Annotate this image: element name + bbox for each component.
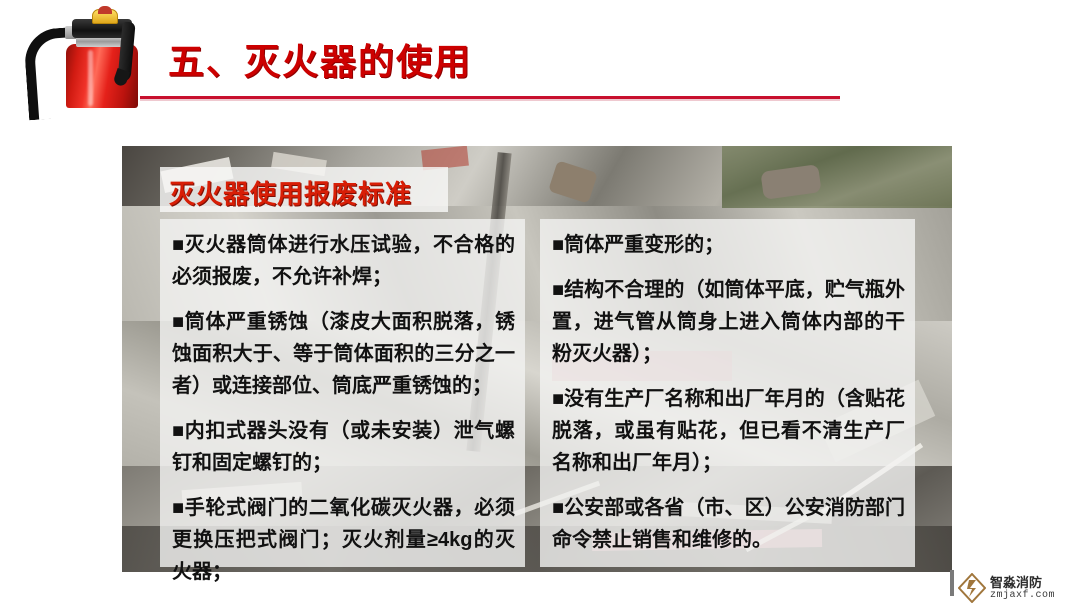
- criteria-column-left: ■灭火器筒体进行水压试验，不合格的必须报废，不允许补焊； ■筒体严重锈蚀（漆皮大…: [160, 219, 525, 567]
- list-item: ■内扣式器头没有（或未安装）泄气螺钉和固定螺钉的；: [172, 415, 515, 479]
- watermark: 智淼消防 zmjaxf.com: [958, 570, 1076, 606]
- list-item: ■筒体严重锈蚀（漆皮大面积脱落，锈蚀面积大于、等于筒体面积的三分之一者）或连接部…: [172, 306, 515, 402]
- fire-extinguisher-icon: [8, 0, 168, 108]
- page-title: 五、灭火器的使用: [168, 44, 472, 80]
- extinguisher-safety-pin: [92, 9, 118, 24]
- title-underline-highlight: [140, 99, 840, 101]
- list-item: ■没有生产厂名称和出厂年月的（含贴花脱落，或虽有贴花，但已看不清生产厂名称和出厂…: [552, 383, 905, 479]
- list-item: ■手轮式阀门的二氧化碳灭火器，必须更换压把式阀门；灭火剂量≥4kg的灭火器；: [172, 492, 515, 588]
- slide-header: 五、灭火器的使用: [0, 0, 1080, 118]
- criteria-column-right: ■筒体严重变形的； ■结构不合理的（如筒体平底，贮气瓶外置，进气管从筒身上进入筒…: [540, 219, 915, 567]
- panel-heading-band: 灭火器使用报废标准: [160, 167, 448, 212]
- list-item: ■结构不合理的（如筒体平底，贮气瓶外置，进气管从筒身上进入筒体内部的干粉灭火器）…: [552, 274, 905, 370]
- list-item: ■筒体严重变形的；: [552, 229, 905, 261]
- watermark-divider: [950, 570, 954, 596]
- panel-heading-text: 灭火器使用报废标准: [169, 174, 412, 211]
- list-item: ■公安部或各省（市、区）公安消防部门命令禁止销售和维修的。: [552, 492, 905, 556]
- watermark-text: 智淼消防 zmjaxf.com: [990, 576, 1055, 601]
- brand-diamond-icon: [958, 573, 986, 603]
- list-item: ■灭火器筒体进行水压试验，不合格的必须报废，不允许补焊；: [172, 229, 515, 293]
- brand-name-cn: 智淼消防: [990, 576, 1055, 589]
- brand-url: zmjaxf.com: [990, 591, 1055, 601]
